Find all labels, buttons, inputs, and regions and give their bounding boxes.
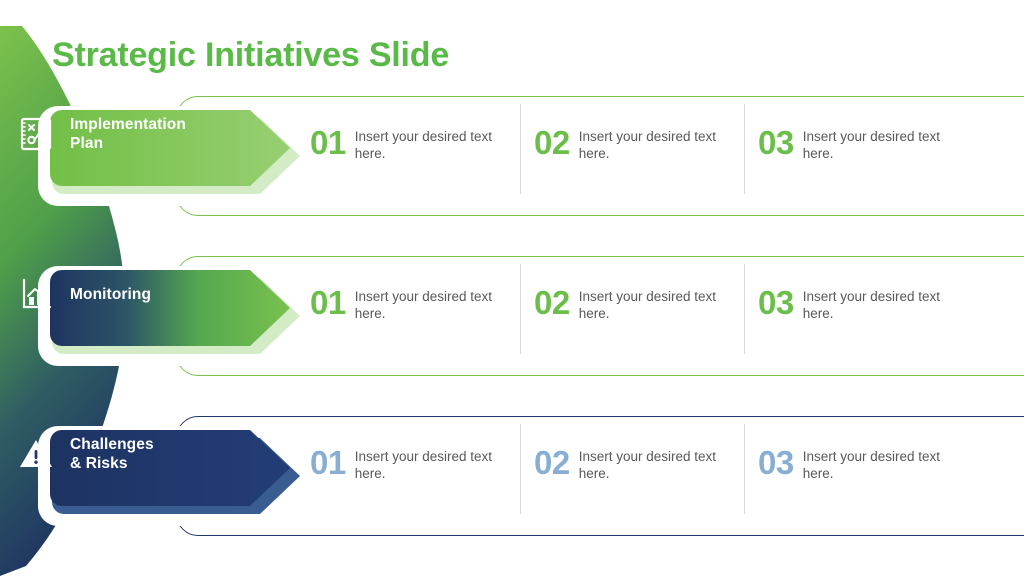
item-text: Insert your desired text here. xyxy=(579,446,729,482)
initiative-row-challenges-and-risks: Challenges & Risks 01 Insert your desire… xyxy=(0,416,1024,576)
column-divider xyxy=(744,104,745,194)
item-number: 03 xyxy=(758,126,794,159)
item-number: 01 xyxy=(310,286,346,319)
item-number: 02 xyxy=(534,286,570,319)
item-number: 03 xyxy=(758,286,794,319)
item-number: 03 xyxy=(758,446,794,479)
column-divider xyxy=(744,264,745,354)
item-text: Insert your desired text here. xyxy=(355,286,505,322)
label-pill-challenges-and-risks[interactable] xyxy=(50,430,290,506)
number-item: 03 Insert your desired text here. xyxy=(758,120,982,192)
number-item: 02 Insert your desired text here. xyxy=(534,120,758,192)
initiative-row-monitoring: Monitoring 01 Insert your desired text h… xyxy=(0,256,1024,416)
column-divider xyxy=(744,424,745,514)
page-title: Strategic Initiatives Slide xyxy=(52,33,449,77)
column-divider xyxy=(520,104,521,194)
item-text: Insert your desired text here. xyxy=(803,126,953,162)
item-text: Insert your desired text here. xyxy=(803,286,953,322)
column-divider xyxy=(520,424,521,514)
label-pill-monitoring[interactable] xyxy=(50,270,290,346)
number-item: 02 Insert your desired text here. xyxy=(534,440,758,512)
item-text: Insert your desired text here. xyxy=(355,126,505,162)
number-item: 01 Insert your desired text here. xyxy=(310,440,534,512)
item-number: 01 xyxy=(310,126,346,159)
number-columns: 01 Insert your desired text here. 02 Ins… xyxy=(310,440,1024,512)
number-item: 03 Insert your desired text here. xyxy=(758,440,982,512)
item-number: 02 xyxy=(534,446,570,479)
number-item: 01 Insert your desired text here. xyxy=(310,280,534,352)
number-item: 02 Insert your desired text here. xyxy=(534,280,758,352)
number-item: 01 Insert your desired text here. xyxy=(310,120,534,192)
item-text: Insert your desired text here. xyxy=(803,446,953,482)
number-columns: 01 Insert your desired text here. 02 Ins… xyxy=(310,280,1024,352)
item-number: 02 xyxy=(534,126,570,159)
number-columns: 01 Insert your desired text here. 02 Ins… xyxy=(310,120,1024,192)
item-text: Insert your desired text here. xyxy=(579,126,729,162)
column-divider xyxy=(520,264,521,354)
item-text: Insert your desired text here. xyxy=(579,286,729,322)
item-number: 01 xyxy=(310,446,346,479)
item-text: Insert your desired text here. xyxy=(355,446,505,482)
label-pill-implementation-plan[interactable] xyxy=(50,110,290,186)
slide-canvas: Strategic Initiatives Slide xyxy=(0,0,1024,576)
number-item: 03 Insert your desired text here. xyxy=(758,280,982,352)
initiative-row-implementation-plan: Implementation Plan 01 Insert your desir… xyxy=(0,96,1024,256)
